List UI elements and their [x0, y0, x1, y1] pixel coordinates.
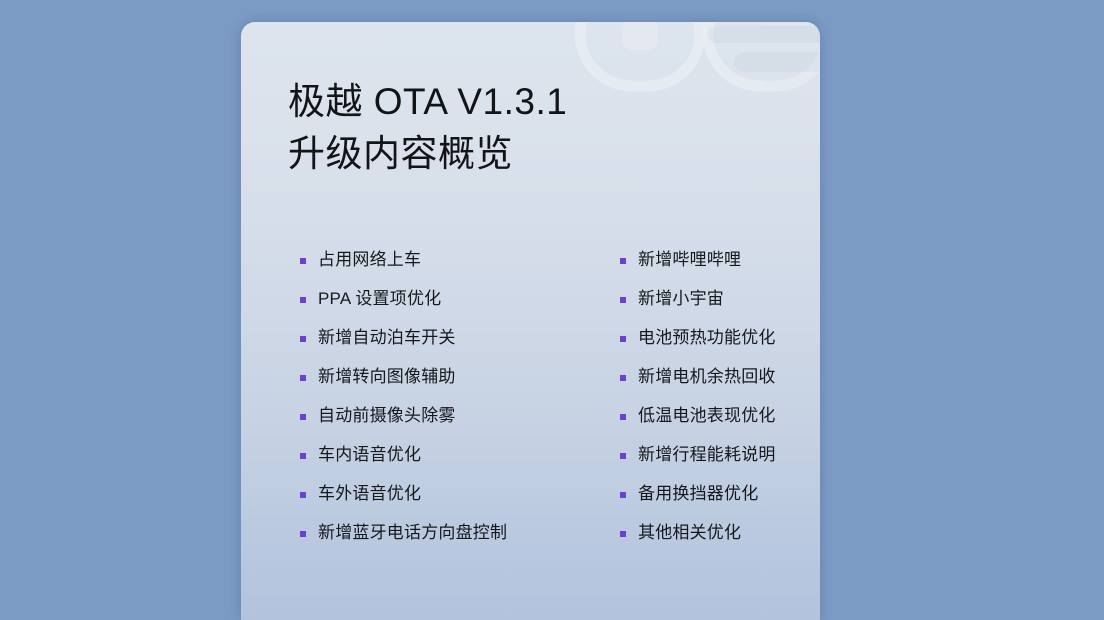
list-item: 新增行程能耗说明 — [620, 435, 820, 474]
list-item-label: 电池预热功能优化 — [638, 328, 776, 348]
bullet-icon — [620, 531, 626, 537]
ota-release-notes-card: 极越 OTA V1.3.1 升级内容概览 占用网络上车 PPA 设置项优化 新增… — [241, 22, 820, 620]
list-item: 新增自动泊车开关 — [300, 318, 526, 357]
list-item: 新增转向图像辅助 — [300, 357, 526, 396]
bullet-icon — [620, 258, 626, 264]
title-line-1: 极越 OTA V1.3.1 — [288, 76, 768, 128]
page-title: 极越 OTA V1.3.1 升级内容概览 — [288, 76, 768, 180]
list-item-label: 新增蓝牙电话方向盘控制 — [318, 523, 507, 543]
list-item-label: 新增自动泊车开关 — [318, 328, 456, 348]
bullet-icon — [300, 453, 306, 459]
list-item: 新增电机余热回收 — [620, 357, 820, 396]
list-item: 低温电池表现优化 — [620, 396, 820, 435]
list-item-label: 车内语音优化 — [318, 445, 421, 465]
list-item-label: 车外语音优化 — [318, 484, 421, 504]
list-item: 其他相关优化 — [620, 513, 820, 552]
list-item-label: 占用网络上车 — [318, 250, 421, 270]
list-item: 备用换挡器优化 — [620, 474, 820, 513]
bullet-icon — [620, 453, 626, 459]
feature-list-right-column: 新增哔哩哔哩 新增小宇宙 电池预热功能优化 新增电机余热回收 低温电池表现优化 — [526, 240, 820, 552]
list-item-label: 新增行程能耗说明 — [638, 445, 776, 465]
list-item-label: 其他相关优化 — [638, 523, 741, 543]
list-item-label: 自动前摄像头除雾 — [318, 406, 456, 426]
list-item: 车内语音优化 — [300, 435, 526, 474]
bullet-icon — [620, 492, 626, 498]
list-item: 电池预热功能优化 — [620, 318, 820, 357]
list-item: 新增哔哩哔哩 — [620, 240, 820, 279]
bullet-icon — [620, 336, 626, 342]
bullet-icon — [300, 258, 306, 264]
list-item-label: 新增小宇宙 — [638, 289, 724, 309]
bullet-icon — [620, 375, 626, 381]
list-item-label: PPA 设置项优化 — [318, 289, 441, 309]
title-line-2: 升级内容概览 — [288, 128, 768, 180]
list-item: 车外语音优化 — [300, 474, 526, 513]
list-item-label: 新增转向图像辅助 — [318, 367, 456, 387]
slide-stage: 极越 OTA V1.3.1 升级内容概览 占用网络上车 PPA 设置项优化 新增… — [0, 0, 1104, 620]
bullet-icon — [620, 297, 626, 303]
list-item-label: 低温电池表现优化 — [638, 406, 776, 426]
list-item-label: 新增哔哩哔哩 — [638, 250, 741, 270]
feature-list: 占用网络上车 PPA 设置项优化 新增自动泊车开关 新增转向图像辅助 自动前摄像… — [241, 240, 820, 552]
list-item: 新增小宇宙 — [620, 279, 820, 318]
bullet-icon — [300, 375, 306, 381]
list-item-label: 备用换挡器优化 — [638, 484, 758, 504]
list-item: PPA 设置项优化 — [300, 279, 526, 318]
bullet-icon — [300, 336, 306, 342]
list-item: 自动前摄像头除雾 — [300, 396, 526, 435]
list-item-label: 新增电机余热回收 — [638, 367, 776, 387]
list-item: 占用网络上车 — [300, 240, 526, 279]
bullet-icon — [620, 414, 626, 420]
feature-list-left-column: 占用网络上车 PPA 设置项优化 新增自动泊车开关 新增转向图像辅助 自动前摄像… — [241, 240, 526, 552]
bullet-icon — [300, 297, 306, 303]
bullet-icon — [300, 492, 306, 498]
bullet-icon — [300, 414, 306, 420]
bullet-icon — [300, 531, 306, 537]
list-item: 新增蓝牙电话方向盘控制 — [300, 513, 526, 552]
